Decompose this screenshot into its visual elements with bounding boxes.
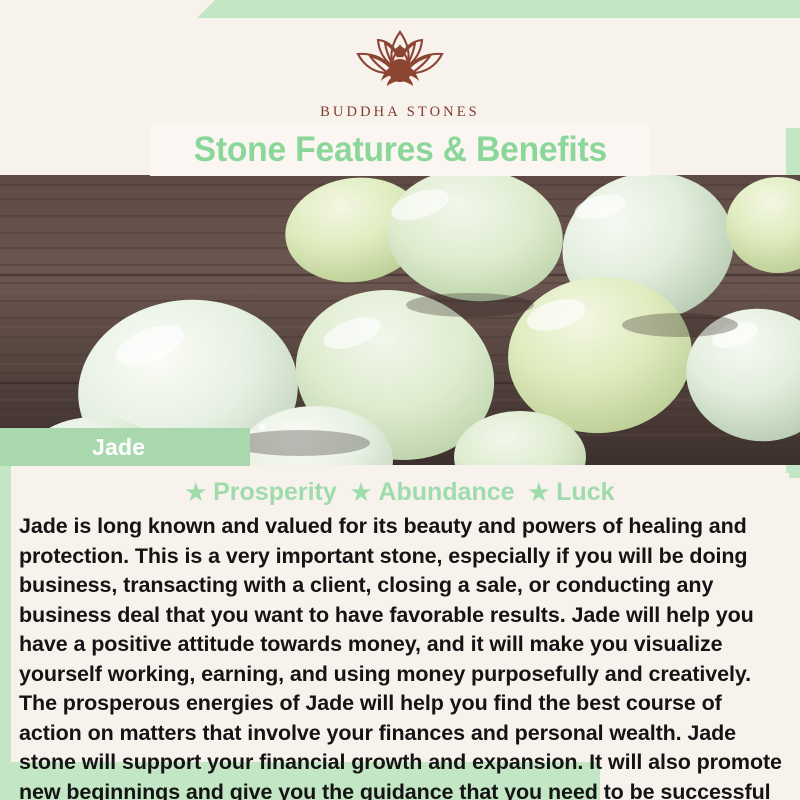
page-title: Stone Features & Benefits bbox=[193, 130, 606, 170]
benefit-item: ★ Prosperity bbox=[185, 478, 336, 507]
star-icon: ★ bbox=[529, 481, 550, 504]
stone-description: Jade is long known and valued for its be… bbox=[11, 512, 789, 800]
benefit-label: Prosperity bbox=[213, 478, 337, 507]
benefits-row: ★ Prosperity ★ Abundance ★ Luck bbox=[11, 473, 789, 511]
stone-photo bbox=[0, 175, 800, 465]
stone-name: Jade bbox=[92, 434, 145, 461]
benefit-label: Luck bbox=[556, 478, 614, 507]
frame-top-band bbox=[0, 0, 800, 18]
brand-name: BUDDHA STONES bbox=[320, 104, 480, 121]
benefit-item: ★ Abundance bbox=[351, 478, 515, 507]
title-card: Stone Features & Benefits bbox=[150, 124, 650, 176]
benefit-item: ★ Luck bbox=[529, 478, 615, 507]
frame-left-body-band bbox=[0, 465, 11, 765]
lotus-meditation-icon bbox=[344, 26, 456, 98]
star-icon: ★ bbox=[185, 481, 206, 504]
star-icon: ★ bbox=[351, 481, 372, 504]
stone-info-card: BUDDHA STONES Stone Features & Benefits bbox=[0, 0, 800, 800]
stone-name-banner: Jade bbox=[0, 428, 250, 466]
benefit-label: Abundance bbox=[378, 478, 514, 507]
brand-header: BUDDHA STONES bbox=[0, 18, 800, 128]
